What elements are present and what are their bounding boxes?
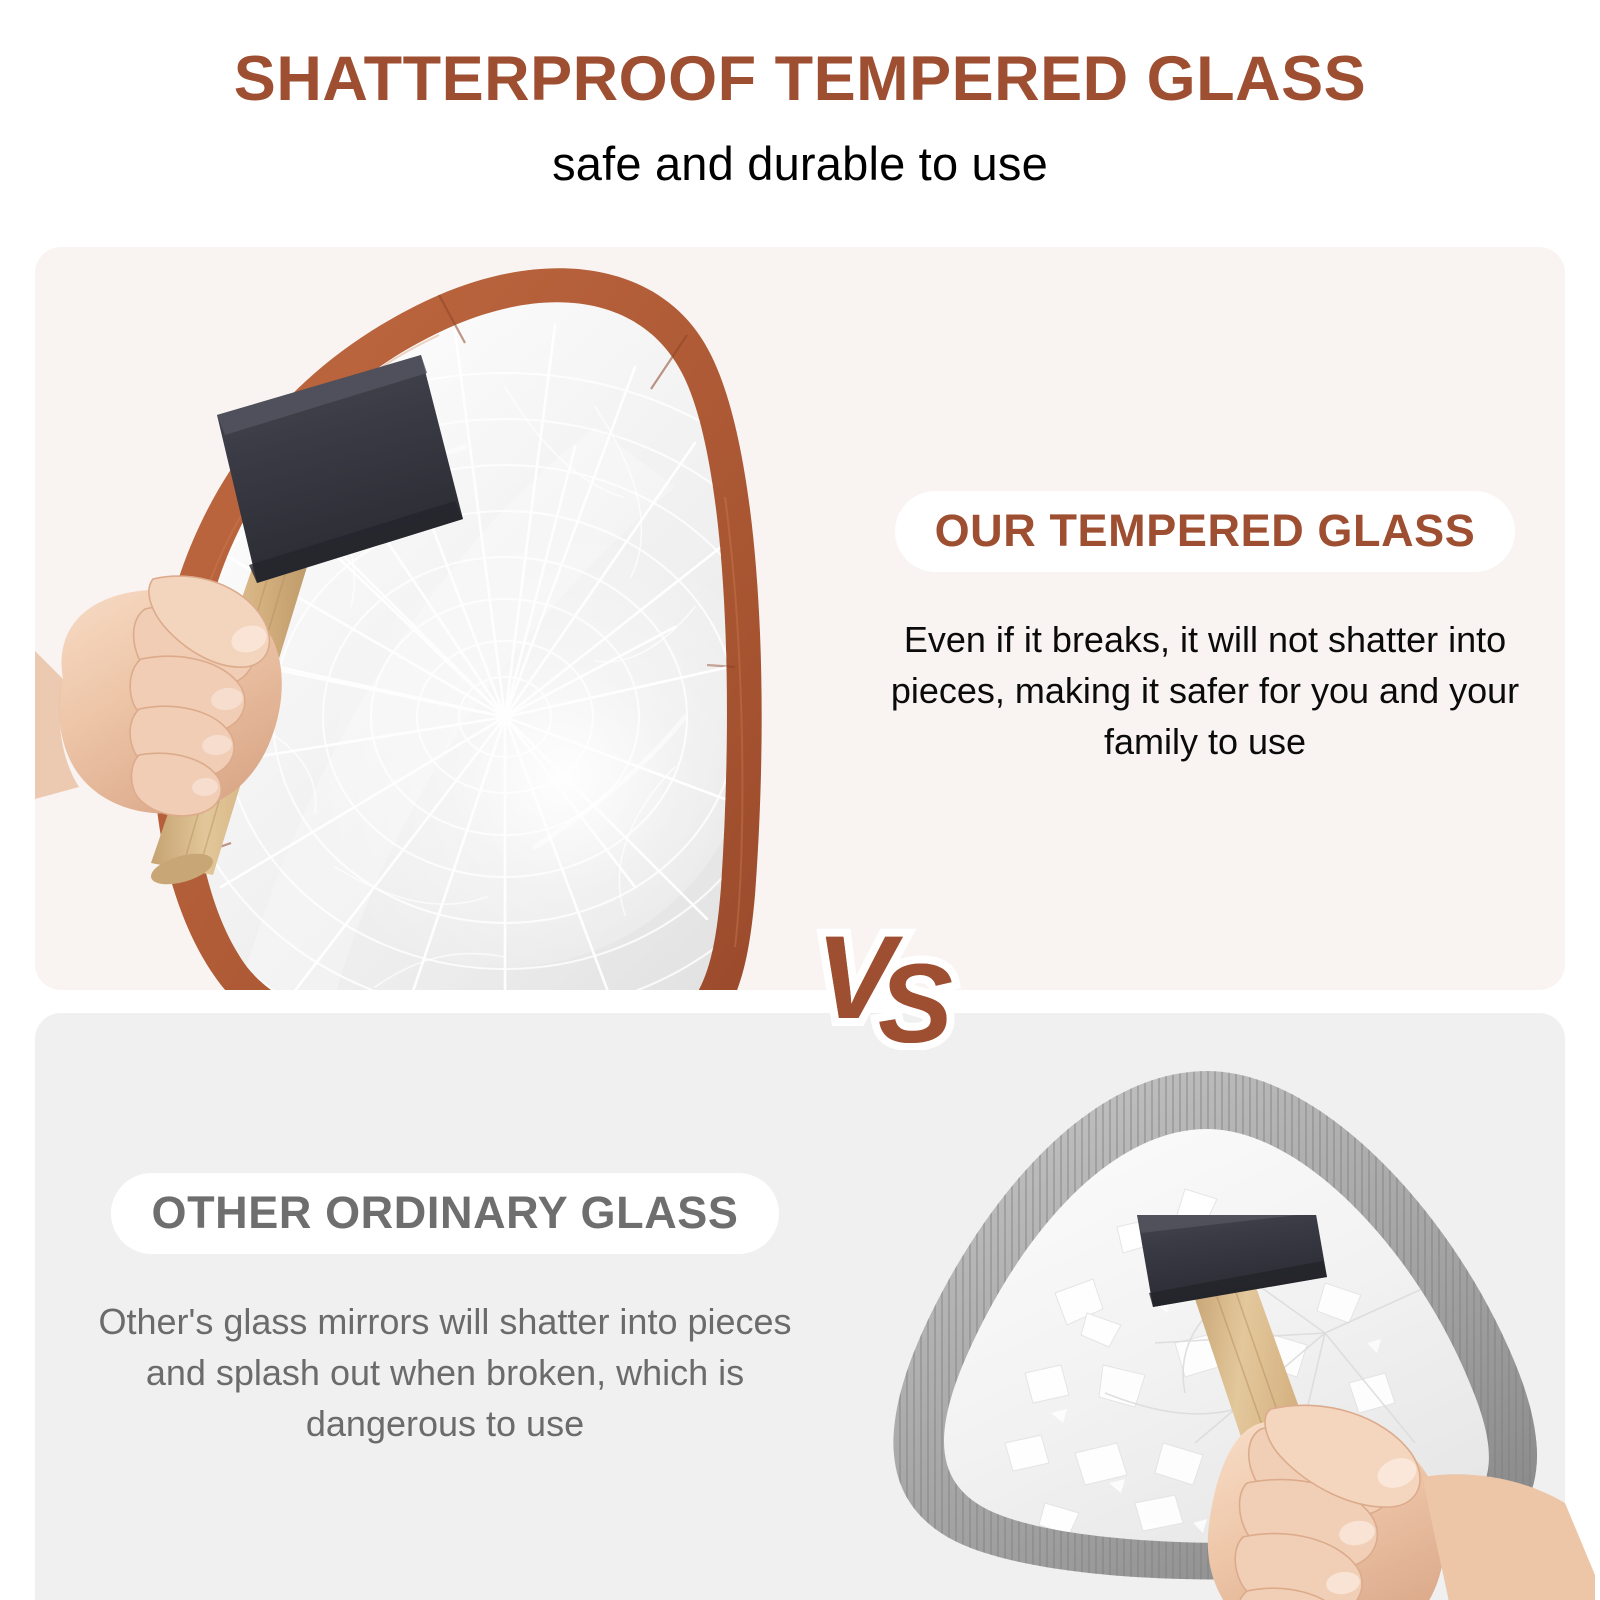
page-subtitle: safe and durable to use [0,138,1600,190]
ordinary-mirror-image [855,1043,1565,1600]
tempered-heading: OUR TEMPERED GLASS [895,491,1516,572]
page-title: SHATTERPROOF TEMPERED GLASS [0,46,1600,112]
infographic-page: SHATTERPROOF TEMPERED GLASS safe and dur… [0,0,1600,1600]
page-header: SHATTERPROOF TEMPERED GLASS safe and dur… [0,0,1600,190]
ordinary-heading: OTHER ORDINARY GLASS [111,1173,778,1254]
ordinary-glass-panel: OTHER ORDINARY GLASS Other's glass mirro… [35,1013,1565,1600]
tempered-mirror-image [35,247,855,990]
tempered-body-text: Even if it breaks, it will not shatter i… [855,614,1555,767]
ordinary-body-text: Other's glass mirrors will shatter into … [95,1296,795,1449]
ordinary-text-block: OTHER ORDINARY GLASS Other's glass mirro… [95,1173,795,1449]
tempered-text-block: OUR TEMPERED GLASS Even if it breaks, it… [855,491,1555,767]
hand [35,576,282,816]
tempered-glass-panel: OUR TEMPERED GLASS Even if it breaks, it… [35,247,1565,990]
